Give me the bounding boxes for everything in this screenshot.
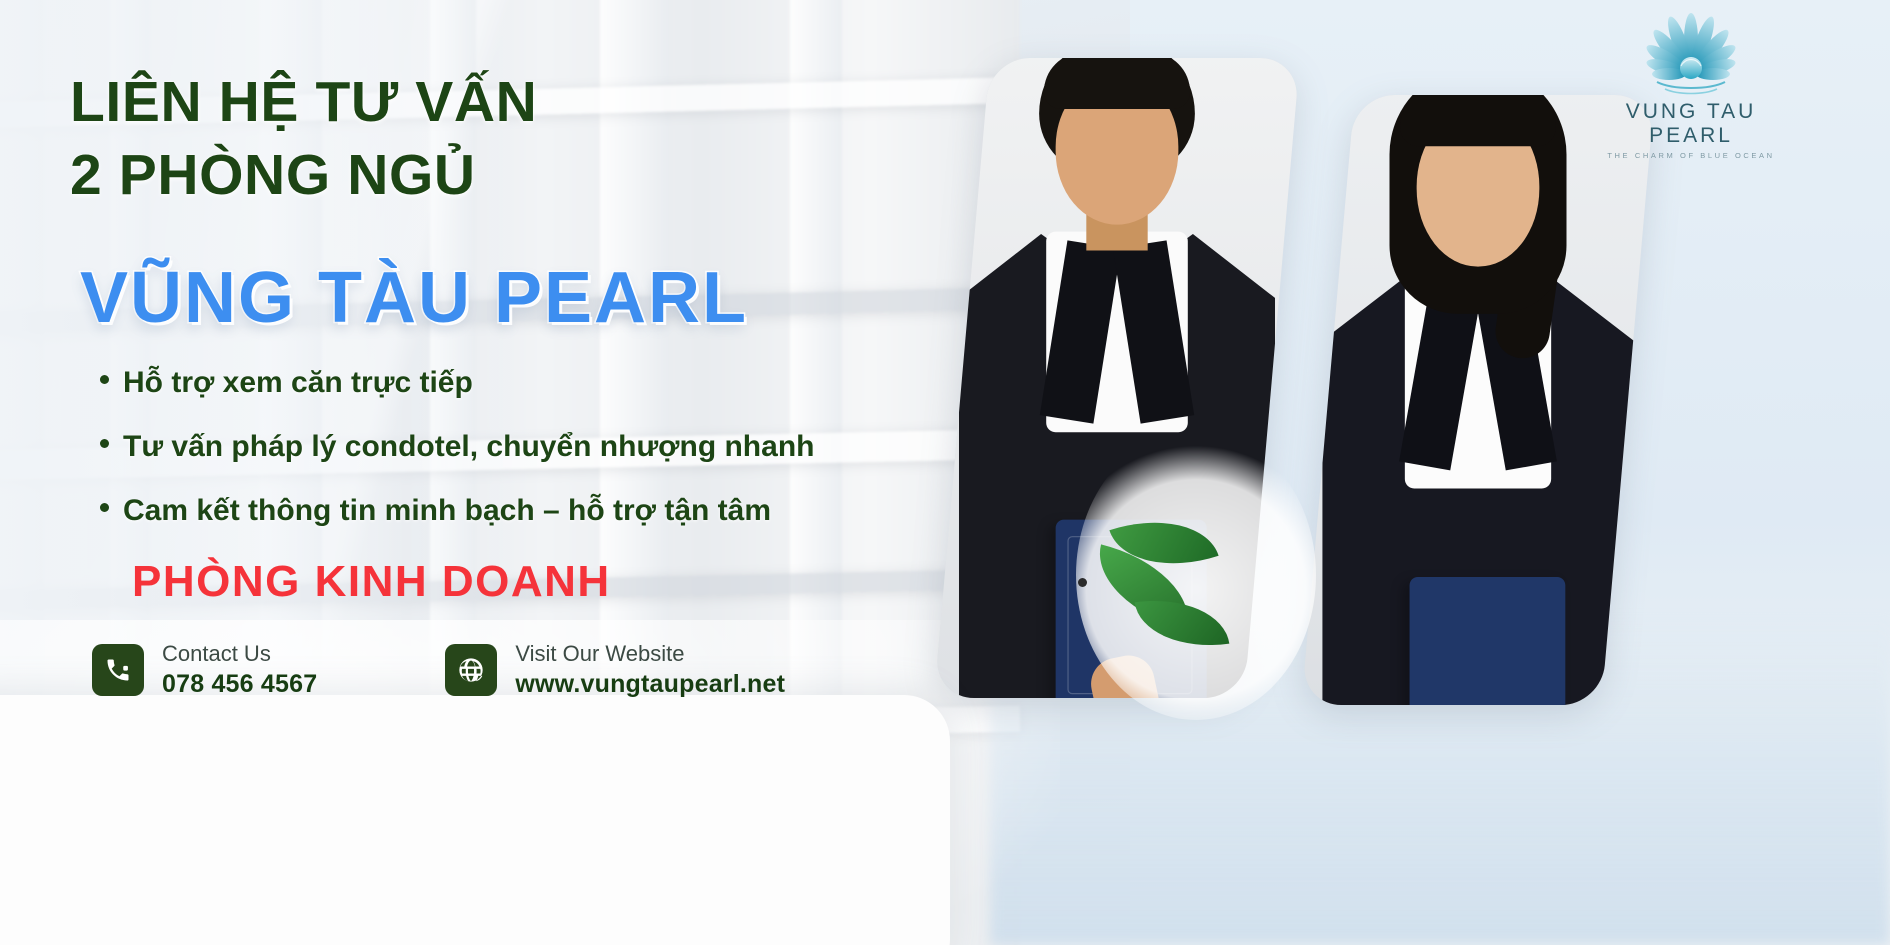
project-title: VŨNG TÀU PEARL [80,262,748,334]
dot-decoration [1078,578,1087,587]
contact-phone-value: 078 456 4567 [162,668,317,701]
female-consultant-photo [1301,95,1654,705]
list-item-label: Cam kết thông tin minh bạch – hỗ trợ tận… [123,493,771,529]
bullet-dot-icon [100,439,109,448]
brand-logo: VUNG TAU PEARL THE CHARM OF BLUE OCEAN [1596,12,1786,160]
bullet-dot-icon [100,503,109,512]
logo-name: VUNG TAU PEARL [1596,100,1786,148]
contact-phone-text: Contact Us 078 456 4567 [162,640,317,700]
contact-phone[interactable]: Contact Us 078 456 4567 [92,640,317,700]
list-item: Hỗ trợ xem căn trực tiếp [100,365,814,401]
logo-tagline: THE CHARM OF BLUE OCEAN [1596,151,1786,160]
list-item-label: Hỗ trợ xem căn trực tiếp [123,365,473,401]
feature-list: Hỗ trợ xem căn trực tiếp Tư vấn pháp lý … [100,365,814,557]
contact-row: Contact Us 078 456 4567 Visit Our Websit… [92,640,785,700]
contact-phone-label: Contact Us [162,640,317,668]
portfolio-folder [1410,577,1566,705]
list-item: Cam kết thông tin minh bạch – hỗ trợ tận… [100,493,814,529]
female-consultant-photo-inner [1301,95,1654,705]
marketing-banner: VUNG TAU PEARL THE CHARM OF BLUE OCEAN L… [0,0,1890,945]
headline-block: LIÊN HỆ TƯ VẤN 2 PHÒNG NGỦ [70,72,950,206]
globe-icon [445,644,497,696]
contact-website-value: www.vungtaupearl.net [515,668,785,701]
phone-icon [92,644,144,696]
list-item: Tư vấn pháp lý condotel, chuyển nhượng n… [100,429,814,465]
headline-line-2: 2 PHÒNG NGỦ [70,145,950,206]
bullet-dot-icon [100,375,109,384]
lotus-pearl-icon [1616,12,1766,98]
leaf-decoration [1090,492,1280,692]
hair-fringe-shape [1044,58,1190,109]
headline-line-1: LIÊN HỆ TƯ VẤN [70,72,950,133]
contact-website[interactable]: Visit Our Website www.vungtaupearl.net [445,640,785,700]
contact-website-text: Visit Our Website www.vungtaupearl.net [515,640,785,700]
list-item-label: Tư vấn pháp lý condotel, chuyển nhượng n… [123,429,814,465]
hair-fringe-shape [1400,95,1556,146]
footer-plate [0,695,950,945]
sales-department-label: PHÒNG KINH DOANH [132,557,611,607]
contact-website-label: Visit Our Website [515,640,785,668]
